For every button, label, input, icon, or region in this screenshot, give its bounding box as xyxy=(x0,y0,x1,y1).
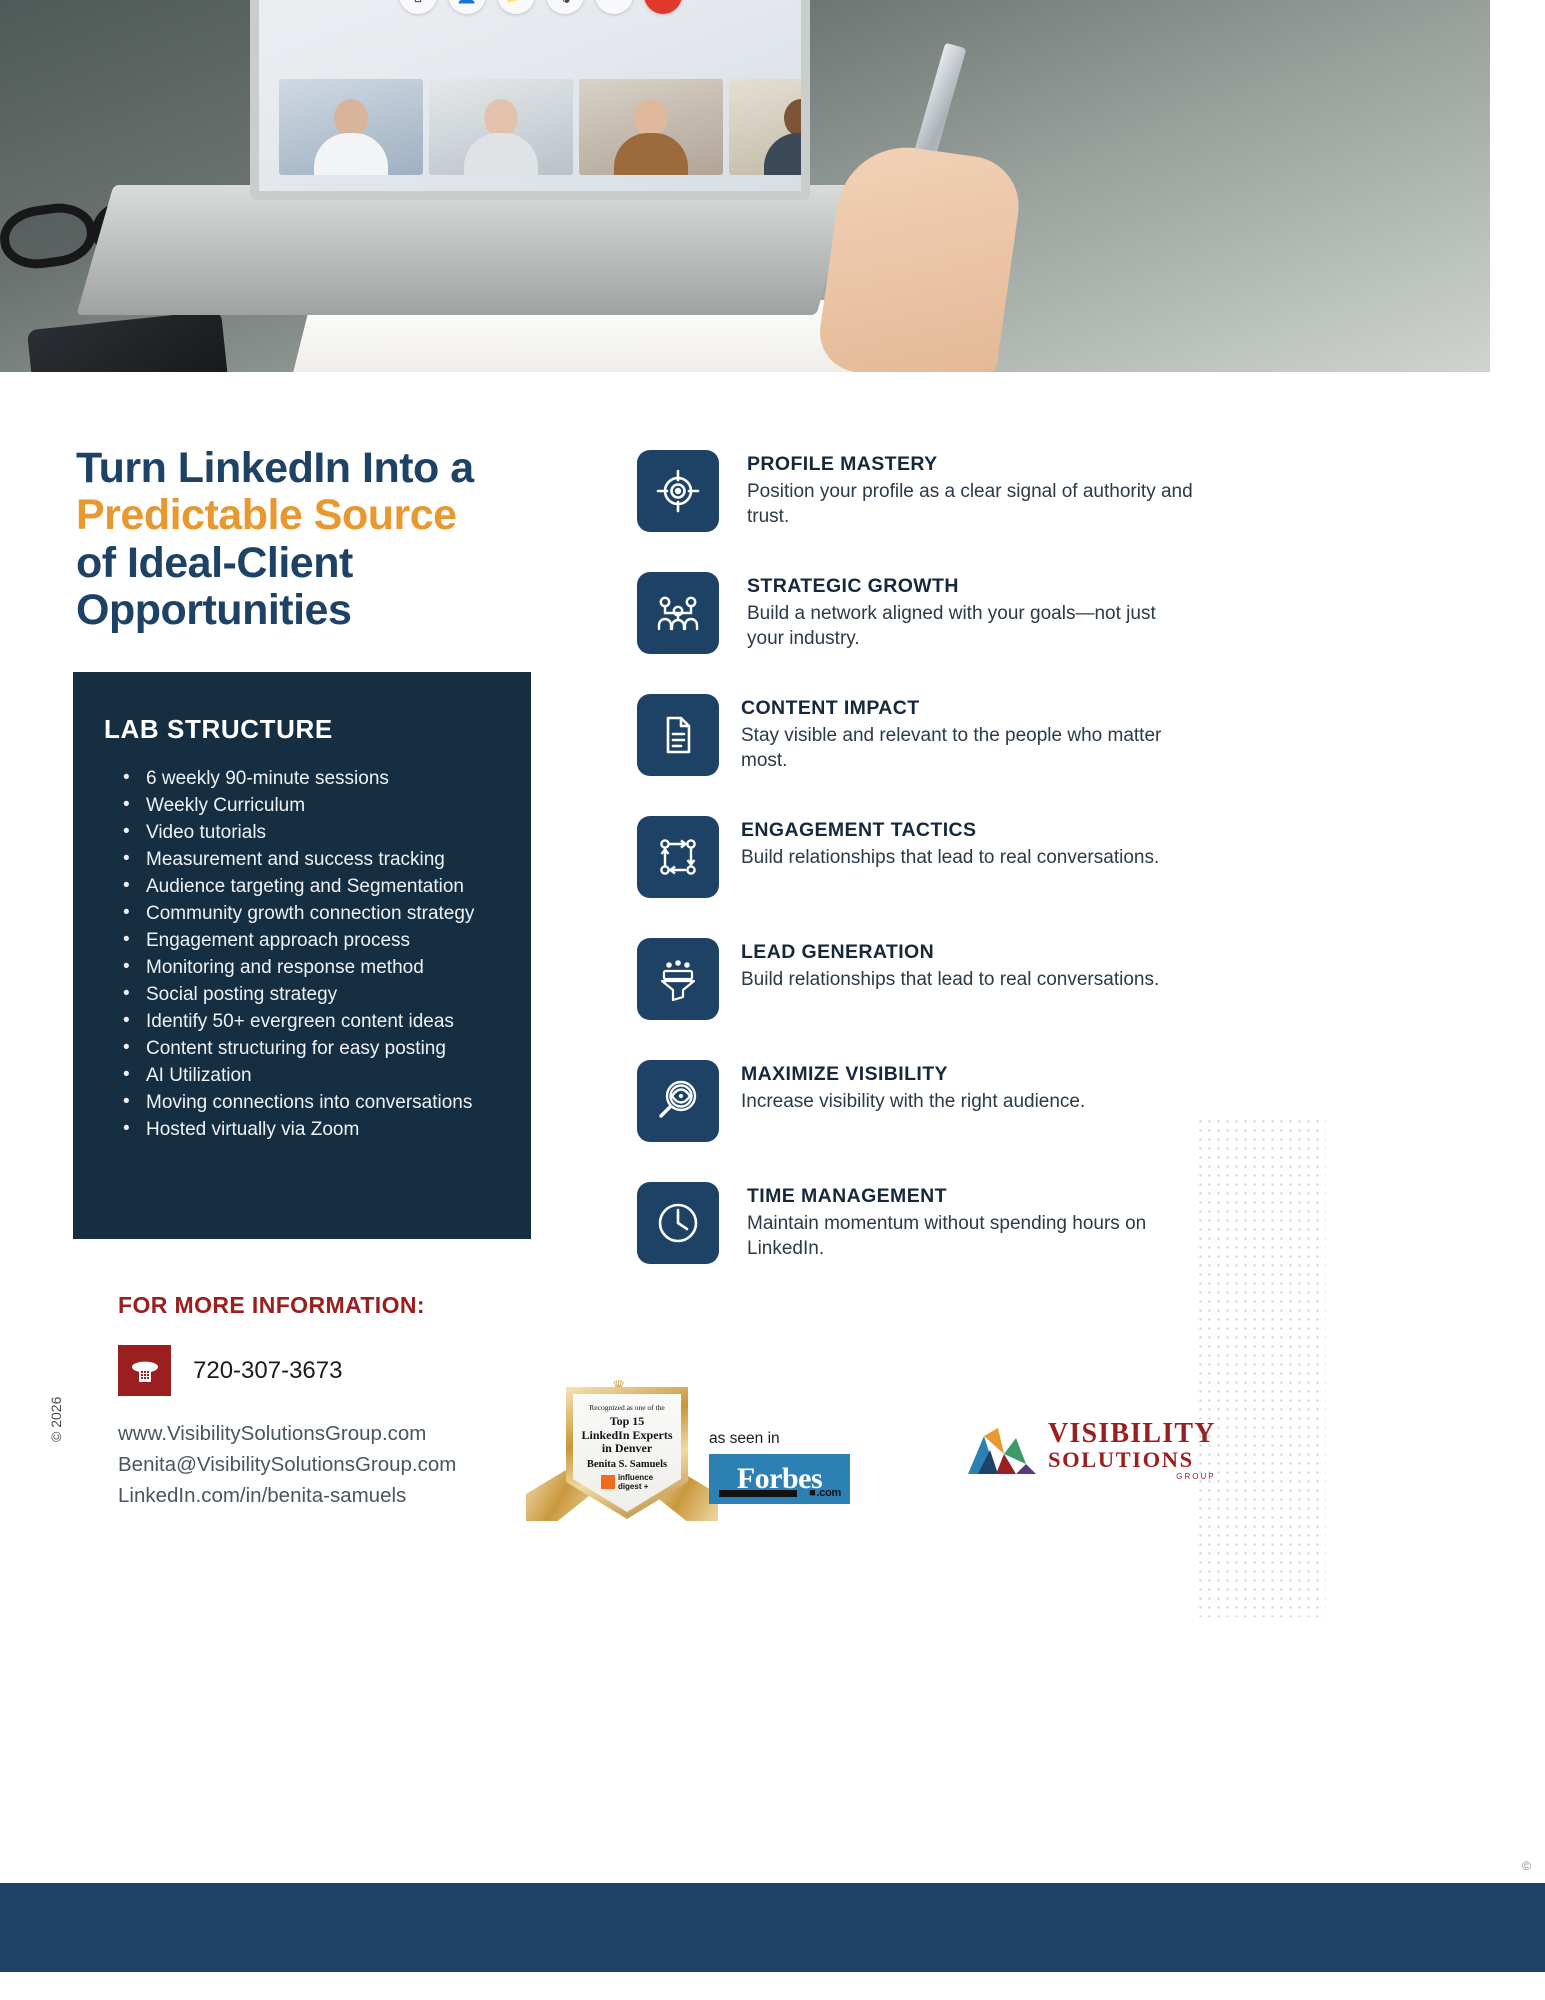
corner-mark: © xyxy=(1522,1859,1531,1873)
badge-name: Benita S. Samuels xyxy=(573,1459,681,1470)
lab-structure-title: LAB STRUCTURE xyxy=(104,714,333,745)
list-item: Measurement and success tracking xyxy=(115,846,515,873)
feature-desc: Build relationships that lead to real co… xyxy=(741,845,1197,870)
logo-line-2: SOLUTIONS xyxy=(1048,1448,1216,1472)
participant-tile xyxy=(279,79,423,175)
footer-bar xyxy=(0,1883,1545,1972)
list-item: Engagement approach process xyxy=(115,927,515,954)
feature-title: CONTENT IMPACT xyxy=(741,697,1197,720)
clock-icon xyxy=(637,1182,719,1264)
person-icon[interactable]: 👤 xyxy=(448,0,486,14)
laptop-base xyxy=(76,185,853,315)
visibility-solutions-logo: VISIBILITY SOLUTIONS GROUP xyxy=(964,1420,1174,1490)
feature-desc: Increase visibility with the right audie… xyxy=(741,1089,1197,1114)
feature-title: STRATEGIC GROWTH xyxy=(741,575,1197,598)
participant-tiles xyxy=(279,79,810,175)
headline-line-3: of Ideal-Client xyxy=(76,540,636,587)
list-item: AI Utilization xyxy=(115,1062,515,1089)
feature-title: ENGAGEMENT TACTICS xyxy=(741,819,1197,842)
list-item: Weekly Curriculum xyxy=(115,792,515,819)
award-badge: ♛ Recognized as one of the Top 15 Linked… xyxy=(554,1377,690,1537)
list-item: Hosted virtually via Zoom xyxy=(115,1116,515,1143)
participant-tile xyxy=(429,79,573,175)
feature-title: PROFILE MASTERY xyxy=(741,453,1197,476)
feature-item-profile-mastery: PROFILE MASTERY Position your profile as… xyxy=(637,450,1197,530)
logo-mark-icon xyxy=(964,1424,1042,1482)
video-call-ui: ▯ 👤 📁 🎙 ☰ ☎ xyxy=(259,0,801,191)
hero-photo: ▯ 👤 📁 🎙 ☰ ☎ xyxy=(0,0,1490,372)
feature-title: LEAD GENERATION xyxy=(741,941,1197,964)
forbes-underline xyxy=(719,1490,797,1497)
lab-structure-card: LAB STRUCTURE 6 weekly 90-minute session… xyxy=(73,672,531,1239)
feature-item-maximize-visibility: MAXIMIZE VISIBILITY Increase visibility … xyxy=(637,1060,1197,1140)
lab-structure-list: 6 weekly 90-minute sessions Weekly Curri… xyxy=(115,765,515,1143)
phone-row: 720-307-3673 xyxy=(118,1345,588,1396)
target-crosshair-icon xyxy=(637,450,719,532)
list-item: 6 weekly 90-minute sessions xyxy=(115,765,515,792)
linkedin-link[interactable]: LinkedIn.com/in/benita-samuels xyxy=(118,1480,588,1511)
list-item: Content structuring for easy posting xyxy=(115,1035,515,1062)
headline-line-2: Predictable Source xyxy=(76,492,636,539)
logo-line-3: GROUP xyxy=(1048,1472,1216,1481)
publisher-line-1: influence xyxy=(618,1473,653,1482)
contact-block: FOR MORE INFORMATION: 720-307-3673 www.V… xyxy=(118,1292,588,1511)
feature-desc: Maintain momentum without spending hours… xyxy=(741,1211,1197,1261)
logo-wordmark: VISIBILITY SOLUTIONS GROUP xyxy=(1048,1420,1216,1481)
folder-icon[interactable]: 📁 xyxy=(497,0,535,14)
list-icon[interactable]: ☰ xyxy=(595,0,633,14)
badge-line-4: in Denver xyxy=(573,1442,681,1455)
website-link[interactable]: www.VisibilitySolutionsGroup.com xyxy=(118,1418,588,1449)
dot-pattern-decoration xyxy=(1196,1117,1326,1617)
lead-funnel-icon xyxy=(637,938,719,1020)
network-people-icon xyxy=(637,572,719,654)
list-item: Video tutorials xyxy=(115,819,515,846)
list-item: Identify 50+ evergreen content ideas xyxy=(115,1008,515,1035)
list-item: Social posting strategy xyxy=(115,981,515,1008)
badge-line-2: Top 15 xyxy=(573,1414,681,1429)
participant-tile xyxy=(579,79,723,175)
feature-item-content-impact: CONTENT IMPACT Stay visible and relevant… xyxy=(637,694,1197,774)
feature-title: TIME MANAGEMENT xyxy=(741,1185,1197,1208)
as-seen-in-label: as seen in xyxy=(709,1430,869,1448)
screen-share-icon[interactable]: ▯ xyxy=(399,0,437,14)
feature-item-engagement-tactics: ENGAGEMENT TACTICS Build relationships t… xyxy=(637,816,1197,896)
phone-number[interactable]: 720-307-3673 xyxy=(193,1357,342,1385)
email-link[interactable]: Benita@VisibilitySolutionsGroup.com xyxy=(118,1449,588,1480)
list-item: Moving connections into conversations xyxy=(115,1089,515,1116)
contact-heading: FOR MORE INFORMATION: xyxy=(118,1292,588,1319)
feature-list: PROFILE MASTERY Position your profile as… xyxy=(637,450,1197,1304)
call-toolbar: ▯ 👤 📁 🎙 ☰ ☎ xyxy=(399,0,719,15)
feature-item-lead-generation: LEAD GENERATION Build relationships that… xyxy=(637,938,1197,1018)
contact-links: www.VisibilitySolutionsGroup.com Benita@… xyxy=(118,1418,588,1511)
forbes-logo: Forbes .com xyxy=(709,1454,850,1504)
telephone-icon xyxy=(118,1345,171,1396)
forbes-com-suffix: .com xyxy=(809,1487,841,1499)
microphone-icon[interactable]: 🎙 xyxy=(546,0,584,14)
logo-line-1: VISIBILITY xyxy=(1048,1420,1216,1448)
influence-digest-logo: influence digest + xyxy=(573,1473,681,1491)
engagement-arrows-icon xyxy=(637,816,719,898)
orange-square-icon xyxy=(601,1475,615,1489)
feature-item-time-management: TIME MANAGEMENT Maintain momentum withou… xyxy=(637,1182,1197,1262)
feature-desc: Stay visible and relevant to the people … xyxy=(741,723,1197,773)
list-item: Audience targeting and Segmentation xyxy=(115,873,515,900)
copyright-text: © 2026 xyxy=(48,1397,64,1442)
headline-line-1: Turn LinkedIn Into a xyxy=(76,445,636,492)
list-item: Community growth connection strategy xyxy=(115,900,515,927)
document-icon xyxy=(637,694,719,776)
page-title: Turn LinkedIn Into a Predictable Source … xyxy=(76,445,636,634)
forbes-block: as seen in Forbes .com xyxy=(709,1430,869,1504)
feature-item-strategic-growth: STRATEGIC GROWTH Build a network aligned… xyxy=(637,572,1197,652)
laptop-screen: ▯ 👤 📁 🎙 ☰ ☎ xyxy=(250,0,810,200)
feature-desc: Position your profile as a clear signal … xyxy=(741,479,1197,529)
badge-line-1: Recognized as one of the xyxy=(573,1403,681,1412)
headline-line-4: Opportunities xyxy=(76,587,636,634)
publisher-line-2: digest + xyxy=(618,1482,653,1491)
feature-desc: Build relationships that lead to real co… xyxy=(741,967,1197,992)
feature-title: MAXIMIZE VISIBILITY xyxy=(741,1063,1197,1086)
list-item: Monitoring and response method xyxy=(115,954,515,981)
participant-tile xyxy=(729,79,810,175)
end-call-icon[interactable]: ☎ xyxy=(644,0,682,14)
magnifier-eye-icon xyxy=(637,1060,719,1142)
feature-desc: Build a network aligned with your goals—… xyxy=(741,601,1197,651)
